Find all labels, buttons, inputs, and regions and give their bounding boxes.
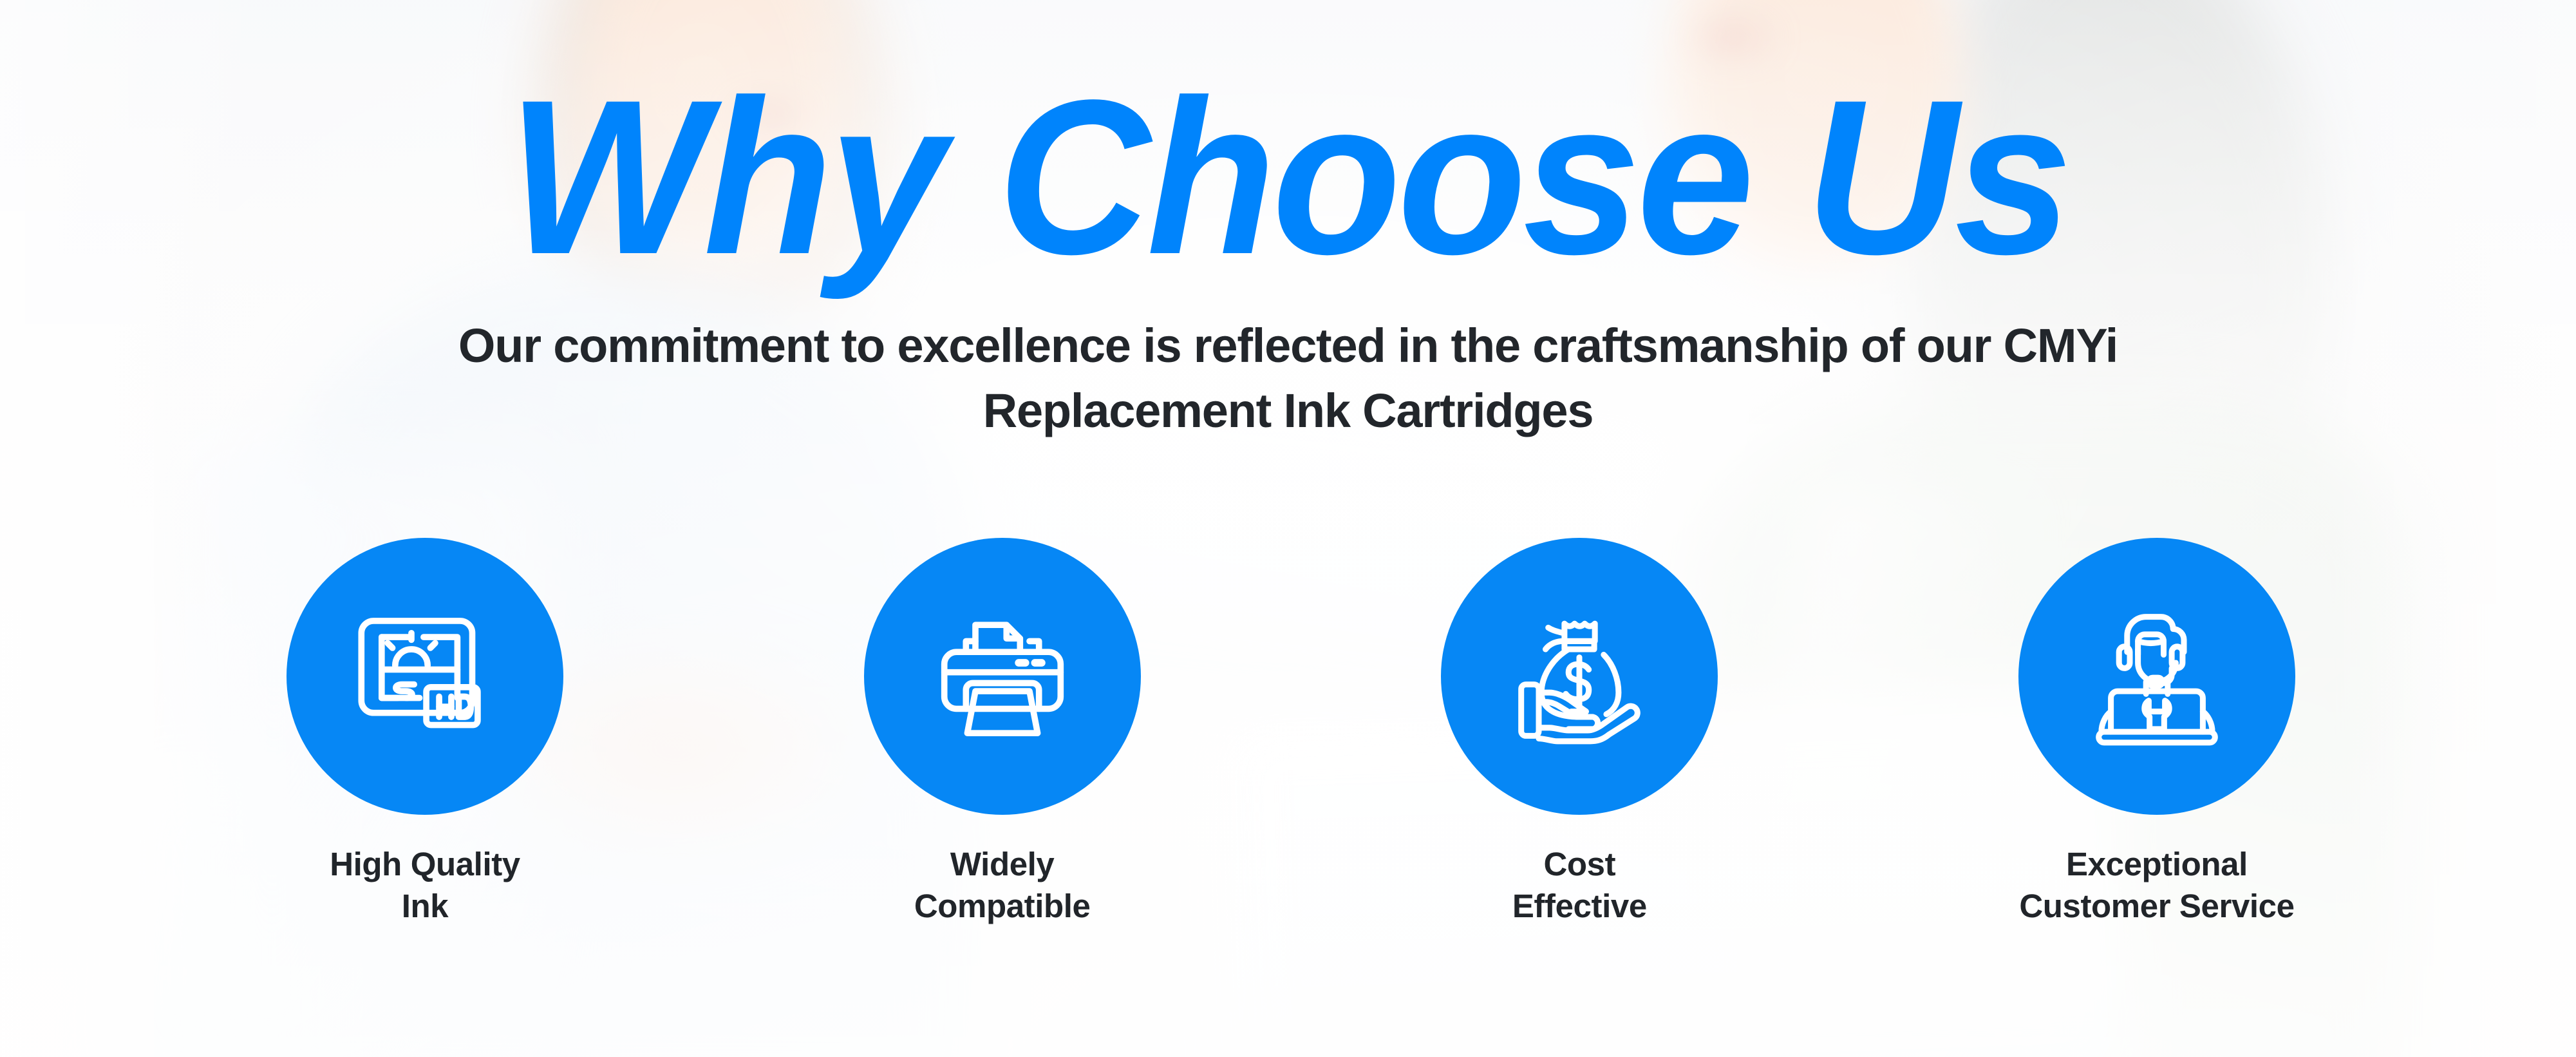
banner-content: Why Choose Us Our commitment to excellen… (0, 0, 2576, 1057)
feature-item-high-quality-ink: High Quality Ink (212, 538, 637, 928)
feature-list: High Quality Ink (212, 538, 2369, 928)
why-choose-us-banner: Why Choose Us Our commitment to excellen… (0, 0, 2576, 1057)
feature-item-cost-effective: Cost Effective (1367, 538, 1792, 928)
feature-item-exceptional-customer-service: Exceptional Customer Service (1944, 538, 2369, 928)
feature-label: Widely Compatible (914, 843, 1091, 928)
hd-image-quality-icon (287, 538, 563, 815)
support-agent-headset-laptop-icon (2018, 538, 2295, 815)
feature-label: High Quality Ink (330, 843, 520, 928)
page-subtitle: Our commitment to excellence is reflecte… (342, 313, 2235, 444)
printer-icon (864, 538, 1141, 815)
support-agent-headset-laptop-glyph (2076, 595, 2238, 757)
hand-holding-money-bag-glyph (1498, 595, 1660, 757)
feature-item-widely-compatible: Widely Compatible (790, 538, 1215, 928)
printer-glyph (921, 595, 1084, 757)
feature-label: Exceptional Customer Service (2019, 843, 2294, 928)
page-title: Why Choose Us (52, 67, 2524, 287)
hd-image-quality-glyph (344, 595, 506, 757)
hand-holding-money-bag-icon (1441, 538, 1718, 815)
feature-label: Cost Effective (1512, 843, 1647, 928)
